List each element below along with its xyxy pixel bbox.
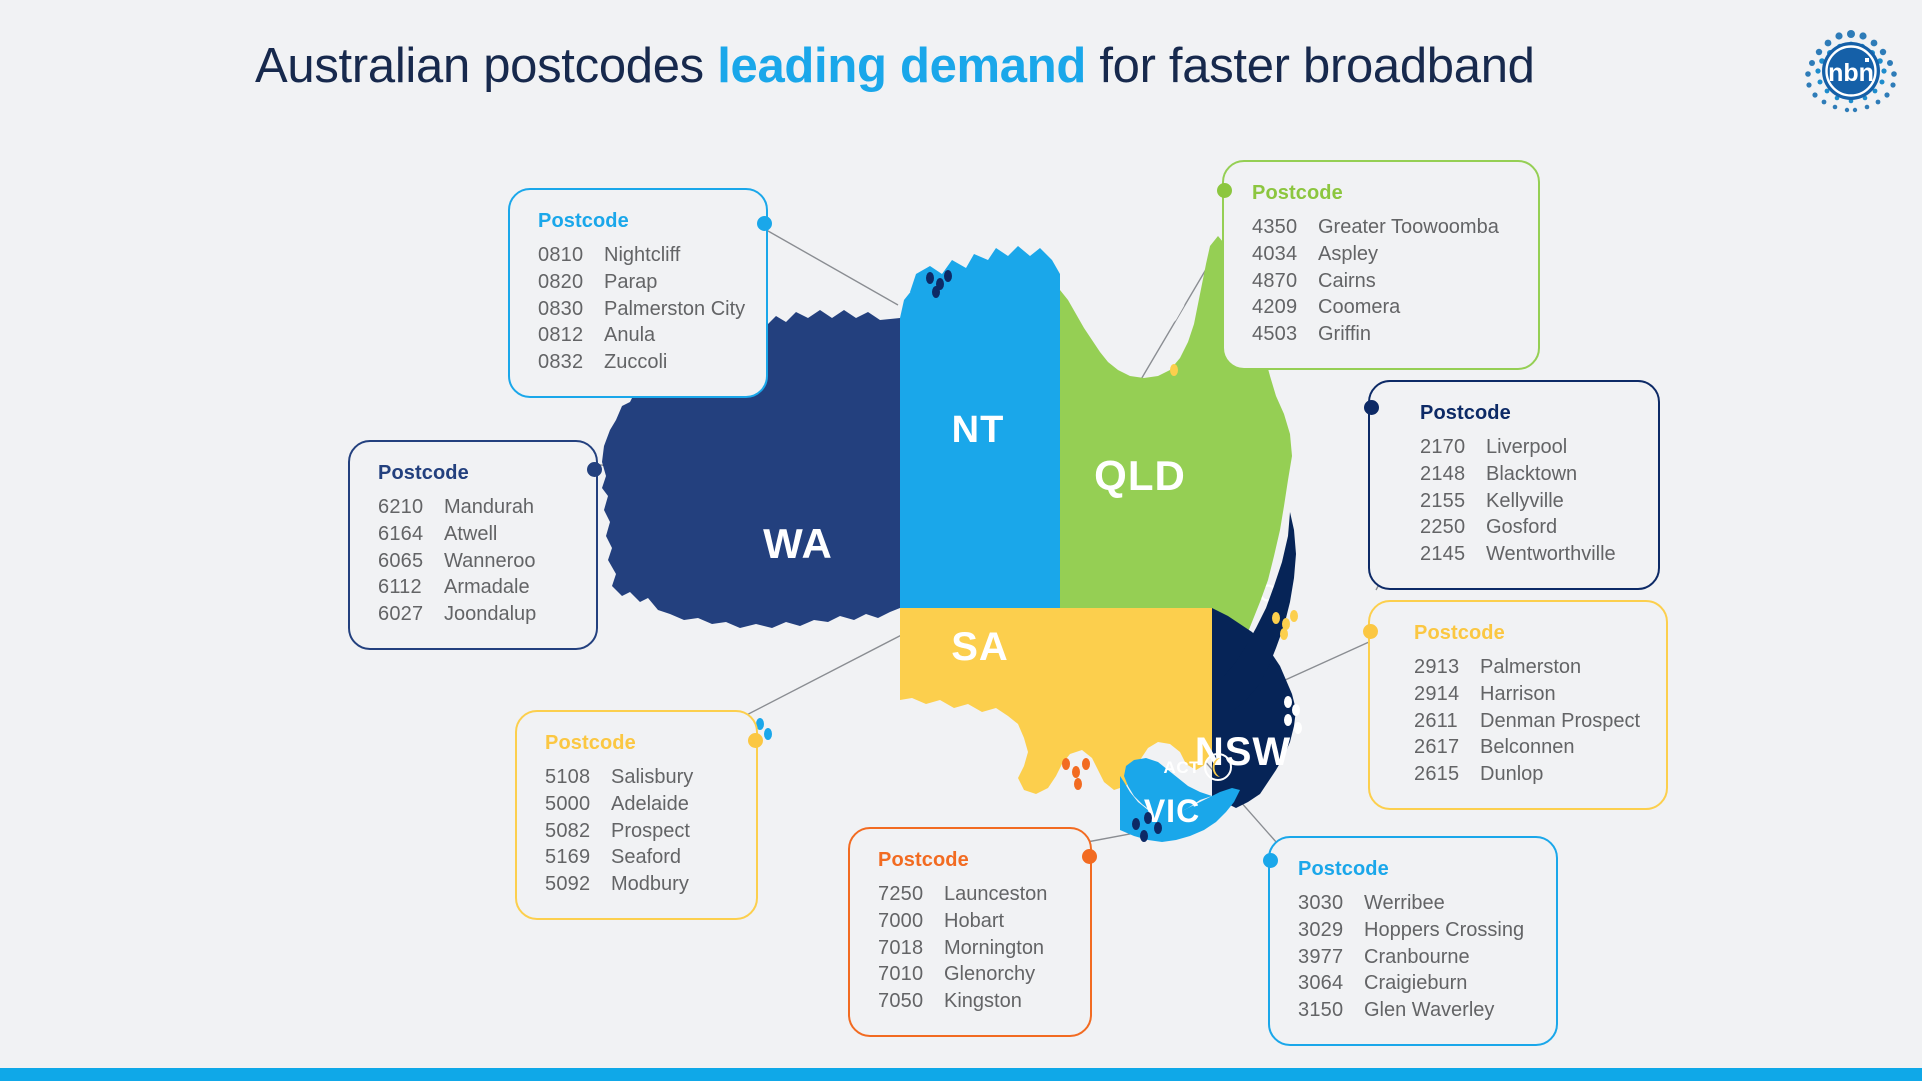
postcode-value: 2170 [1420, 434, 1486, 461]
map-label-sa: SA [951, 625, 1009, 669]
postcode-value: 4350 [1252, 214, 1318, 241]
suburb-name: Hobart [944, 908, 1064, 935]
list-item: 5092Modbury [545, 871, 730, 898]
suburb-name: Adelaide [611, 791, 730, 818]
postcode-value: 7050 [878, 988, 944, 1015]
list-item: 4034Aspley [1252, 241, 1512, 268]
connector-knob-qld [1217, 183, 1232, 198]
suburb-name: Seaford [611, 844, 730, 871]
postcode-value: 2615 [1414, 761, 1480, 788]
list-item: 3030Werribee [1298, 890, 1530, 917]
list-item: 4870Cairns [1252, 268, 1512, 295]
connector-knob-wa [587, 462, 602, 477]
suburb-name: Launceston [944, 881, 1064, 908]
list-item: 4209Coomera [1252, 294, 1512, 321]
list-item: 2617Belconnen [1414, 734, 1640, 761]
infographic-canvas: Australian postcodes leading demand for … [0, 0, 1922, 1081]
list-item: 7000Hobart [878, 908, 1064, 935]
suburb-name: Denman Prospect [1480, 708, 1640, 735]
suburb-name: Wanneroo [444, 548, 570, 575]
suburb-name: Glen Waverley [1364, 997, 1530, 1024]
page-title: Australian postcodes leading demand for … [255, 40, 1715, 94]
map-label-vic: VIC [1144, 793, 1200, 829]
postcode-value: 3150 [1298, 997, 1364, 1024]
postcode-value: 4503 [1252, 321, 1318, 348]
postcode-card-qld[interactable]: Postcode 4350Greater Toowoomba 4034Asple… [1222, 160, 1540, 370]
list-item: 2615Dunlop [1414, 761, 1640, 788]
list-item: 3150Glen Waverley [1298, 997, 1530, 1024]
card-title-nt: Postcode [538, 210, 740, 233]
postcode-list-vic: 3030Werribee 3029Hoppers Crossing 3977Cr… [1298, 890, 1530, 1024]
suburb-name: Mornington [944, 935, 1064, 962]
suburb-name: Kellyville [1486, 488, 1632, 515]
postcode-value: 3029 [1298, 917, 1364, 944]
map-label-nt: NT [952, 409, 1005, 451]
list-item: 6164Atwell [378, 521, 570, 548]
map-nt-coast [910, 246, 1060, 292]
list-item: 4350Greater Toowoomba [1252, 214, 1512, 241]
map-label-wa: WA [763, 520, 833, 567]
postcode-card-tas[interactable]: Postcode 7250Launceston 7000Hobart 7018M… [848, 827, 1092, 1037]
postcode-value: 5082 [545, 818, 611, 845]
postcode-card-nt[interactable]: Postcode 0810Nightcliff 0820Parap 0830Pa… [508, 188, 768, 398]
map-label-nsw: NSW [1195, 730, 1291, 774]
suburb-name: Prospect [611, 818, 730, 845]
map-qld-gulf [1100, 274, 1188, 334]
list-item: 2913Palmerston [1414, 654, 1640, 681]
suburb-name: Nightcliff [604, 242, 740, 269]
postcode-value: 2250 [1420, 514, 1486, 541]
list-item: 0832Zuccoli [538, 349, 740, 376]
postcode-value: 7250 [878, 881, 944, 908]
suburb-name: Atwell [444, 521, 570, 548]
postcode-value: 5092 [545, 871, 611, 898]
list-item: 3977Cranbourne [1298, 944, 1530, 971]
suburb-name: Joondalup [444, 601, 570, 628]
suburb-name: Palmerston City [604, 296, 745, 323]
postcode-list-tas: 7250Launceston 7000Hobart 7018Mornington… [878, 881, 1064, 1015]
suburb-name: Dunlop [1480, 761, 1640, 788]
postcode-list-nt: 0810Nightcliff 0820Parap 0830Palmerston … [538, 242, 740, 376]
list-item: 6210Mandurah [378, 494, 570, 521]
connector-knob-tas [1082, 849, 1097, 864]
postcode-list-wa: 6210Mandurah 6164Atwell 6065Wanneroo 611… [378, 494, 570, 628]
suburb-name: Harrison [1480, 681, 1640, 708]
postcode-value: 6112 [378, 574, 444, 601]
card-title-wa: Postcode [378, 462, 570, 485]
postcode-card-vic[interactable]: Postcode 3030Werribee 3029Hoppers Crossi… [1268, 836, 1558, 1046]
list-item: 2914Harrison [1414, 681, 1640, 708]
suburb-name: Cairns [1318, 268, 1512, 295]
postcode-card-sa[interactable]: Postcode 5108Salisbury 5000Adelaide 5082… [515, 710, 758, 920]
suburb-name: Glenorchy [944, 961, 1064, 988]
suburb-name: Belconnen [1480, 734, 1640, 761]
card-title-tas: Postcode [878, 849, 1064, 872]
suburb-name: Wentworthville [1486, 541, 1632, 568]
postcode-card-nsw[interactable]: Postcode 2170Liverpool 2148Blacktown 215… [1368, 380, 1660, 590]
suburb-name: Salisbury [611, 764, 730, 791]
suburb-name: Greater Toowoomba [1318, 214, 1512, 241]
suburb-name: Liverpool [1486, 434, 1632, 461]
connector-knob-nt [757, 216, 772, 231]
suburb-name: Armadale [444, 574, 570, 601]
postcode-card-wa[interactable]: Postcode 6210Mandurah 6164Atwell 6065Wan… [348, 440, 598, 650]
postcode-value: 0820 [538, 269, 604, 296]
suburb-name: Gosford [1486, 514, 1632, 541]
list-item: 7010Glenorchy [878, 961, 1064, 988]
postcode-value: 2155 [1420, 488, 1486, 515]
postcode-value: 2611 [1414, 708, 1480, 735]
postcode-list-nsw: 2170Liverpool 2148Blacktown 2155Kellyvil… [1420, 434, 1632, 568]
list-item: 0830Palmerston City [538, 296, 740, 323]
suburb-name: Palmerston [1480, 654, 1640, 681]
postcode-value: 3030 [1298, 890, 1364, 917]
list-item: 5000Adelaide [545, 791, 730, 818]
footer-accent-bar [0, 1068, 1922, 1081]
postcode-value: 6065 [378, 548, 444, 575]
suburb-name: Hoppers Crossing [1364, 917, 1530, 944]
list-item: 5108Salisbury [545, 764, 730, 791]
list-item: 2155Kellyville [1420, 488, 1632, 515]
postcode-value: 0810 [538, 242, 604, 269]
list-item: 2145Wentworthville [1420, 541, 1632, 568]
list-item: 7250Launceston [878, 881, 1064, 908]
nbn-logo-wordmark: nbn [1828, 59, 1874, 87]
postcode-value: 2145 [1420, 541, 1486, 568]
postcode-value: 6027 [378, 601, 444, 628]
list-item: 3064Craigieburn [1298, 970, 1530, 997]
postcode-value: 7010 [878, 961, 944, 988]
card-title-sa: Postcode [545, 732, 730, 755]
suburb-name: Kingston [944, 988, 1064, 1015]
postcode-list-act: 2913Palmerston 2914Harrison 2611Denman P… [1414, 654, 1640, 788]
connector-knob-sa [748, 733, 763, 748]
suburb-name: Anula [604, 322, 740, 349]
suburb-name: Werribee [1364, 890, 1530, 917]
postcode-value: 0830 [538, 296, 604, 323]
list-item: 6065Wanneroo [378, 548, 570, 575]
postcode-value: 6164 [378, 521, 444, 548]
title-text-leading: Australian postcodes [255, 39, 717, 93]
postcode-value: 5108 [545, 764, 611, 791]
list-item: 2170Liverpool [1420, 434, 1632, 461]
suburb-name: Coomera [1318, 294, 1512, 321]
postcode-value: 7000 [878, 908, 944, 935]
postcode-value: 3064 [1298, 970, 1364, 997]
connector-knob-act [1363, 624, 1378, 639]
list-item: 5082Prospect [545, 818, 730, 845]
list-item: 4503Griffin [1252, 321, 1512, 348]
card-title-nsw: Postcode [1420, 402, 1632, 425]
postcode-value: 2913 [1414, 654, 1480, 681]
postcode-value: 2148 [1420, 461, 1486, 488]
map-label-qld: QLD [1094, 452, 1186, 499]
postcode-list-qld: 4350Greater Toowoomba 4034Aspley 4870Cai… [1252, 214, 1512, 348]
list-item: 2611Denman Prospect [1414, 708, 1640, 735]
postcode-value: 7018 [878, 935, 944, 962]
list-item: 3029Hoppers Crossing [1298, 917, 1530, 944]
postcode-value: 4034 [1252, 241, 1318, 268]
postcode-value: 6210 [378, 494, 444, 521]
title-highlight: leading demand [717, 39, 1086, 93]
list-item: 6112Armadale [378, 574, 570, 601]
suburb-name: Modbury [611, 871, 730, 898]
suburb-name: Craigieburn [1364, 970, 1530, 997]
list-item: 2148Blacktown [1420, 461, 1632, 488]
card-title-vic: Postcode [1298, 858, 1530, 881]
list-item: 0812Anula [538, 322, 740, 349]
postcode-list-sa: 5108Salisbury 5000Adelaide 5082Prospect … [545, 764, 730, 898]
list-item: 2250Gosford [1420, 514, 1632, 541]
card-title-qld: Postcode [1252, 182, 1512, 205]
list-item: 6027Joondalup [378, 601, 570, 628]
list-item: 0820Parap [538, 269, 740, 296]
postcode-value: 4870 [1252, 268, 1318, 295]
postcode-value: 4209 [1252, 294, 1318, 321]
suburb-name: Blacktown [1486, 461, 1632, 488]
suburb-name: Aspley [1318, 241, 1512, 268]
postcode-value: 5000 [545, 791, 611, 818]
svg-text:ACT: ACT [1164, 758, 1201, 777]
suburb-name: Mandurah [444, 494, 570, 521]
title-text-trailing: for faster broadband [1086, 39, 1535, 93]
suburb-name: Griffin [1318, 321, 1512, 348]
postcode-value: 2617 [1414, 734, 1480, 761]
connector-knob-vic [1263, 853, 1278, 868]
list-item: 0810Nightcliff [538, 242, 740, 269]
postcode-value: 0832 [538, 349, 604, 376]
suburb-name: Parap [604, 269, 740, 296]
nbn-logo: nbn [1795, 14, 1907, 124]
list-item: 7018Mornington [878, 935, 1064, 962]
postcode-value: 3977 [1298, 944, 1364, 971]
suburb-name: Cranbourne [1364, 944, 1530, 971]
connector-knob-nsw [1364, 400, 1379, 415]
postcode-value: 2914 [1414, 681, 1480, 708]
map-demand-pins-sa [1062, 758, 1090, 790]
suburb-name: Zuccoli [604, 349, 740, 376]
card-title-act: Postcode [1414, 622, 1640, 645]
postcode-card-act[interactable]: Postcode 2913Palmerston 2914Harrison 261… [1368, 600, 1668, 810]
list-item: 7050Kingston [878, 988, 1064, 1015]
postcode-value: 0812 [538, 322, 604, 349]
list-item: 5169Seaford [545, 844, 730, 871]
postcode-value: 5169 [545, 844, 611, 871]
